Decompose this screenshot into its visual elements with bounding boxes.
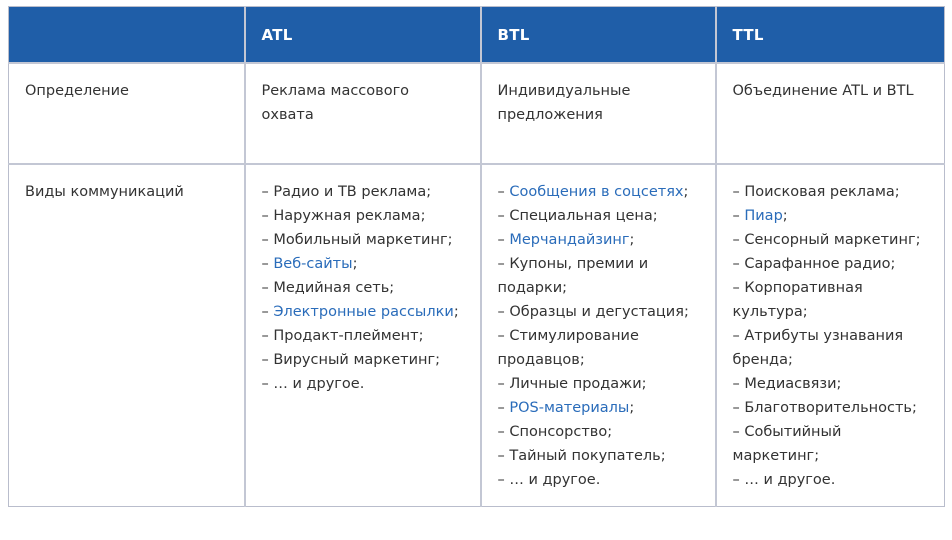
list-item[interactable]: – Сообщения в соцсетях; — [498, 180, 699, 204]
list-item-link[interactable]: Веб-сайты — [273, 256, 352, 272]
list-item-text: Наружная реклама — [273, 208, 420, 224]
list-item: – Тайный покупатель; — [498, 444, 699, 468]
list-item-punctuation: ; — [607, 424, 612, 440]
list-bullet-dash: – — [498, 376, 510, 392]
list-bullet-dash: – — [733, 232, 745, 248]
list-item: – Личные продажи; — [498, 372, 699, 396]
list-bullet-dash: – — [498, 472, 510, 488]
list-item: – Корпоративная культура; — [733, 276, 929, 324]
list-item: – Поисковая реклама; — [733, 180, 929, 204]
list-item-text: Купоны, премии и подарки — [498, 256, 649, 296]
table-row-definition: Определение Реклама массового охвата Инд… — [9, 63, 945, 164]
list-bullet-dash: – — [262, 304, 274, 320]
list-item: – … и другое. — [498, 468, 699, 492]
list-item[interactable]: – POS-материалы; — [498, 396, 699, 420]
cell-communications-btl: – Сообщения в соцсетях;– Специальная цен… — [481, 164, 716, 507]
list-bullet-dash: – — [733, 184, 745, 200]
cell-definition-ttl: Объединение ATL и BTL — [716, 63, 945, 164]
list-item-text: Тайный покупатель — [509, 448, 660, 464]
list-bullet-dash: – — [262, 208, 274, 224]
list-item-punctuation: ; — [916, 232, 921, 248]
list-item: – … и другое. — [262, 372, 464, 396]
list-item[interactable]: – Пиар; — [733, 204, 929, 228]
list-bullet-dash: – — [498, 256, 510, 272]
list-item-text: Сарафанное радио — [744, 256, 890, 272]
list-bullet-dash: – — [498, 328, 510, 344]
list-item-punctuation: . — [596, 472, 601, 488]
list-bullet-dash: – — [262, 232, 274, 248]
list-bullet-dash: – — [733, 472, 745, 488]
list-item-punctuation: ; — [630, 232, 635, 248]
list-item-link[interactable]: Электронные рассылки — [273, 304, 453, 320]
list-bullet-dash: – — [262, 256, 274, 272]
list-item: – Стимулирование продавцов; — [498, 324, 699, 372]
list-item: – Продакт-плеймент; — [262, 324, 464, 348]
list-item: – Образцы и дегустация; — [498, 300, 699, 324]
list-bullet-dash: – — [262, 352, 274, 368]
row-label-communications-text: Виды коммуникаций — [25, 180, 228, 204]
list-bullet-dash: – — [733, 424, 745, 440]
list-item-punctuation: ; — [837, 376, 842, 392]
list-bullet-dash: – — [733, 328, 745, 344]
list-item-text: Мобильный маркетинг — [273, 232, 447, 248]
list-item[interactable]: – Электронные рассылки; — [262, 300, 464, 324]
list-item[interactable]: – Веб-сайты; — [262, 252, 464, 276]
list-item-text: … и другое — [273, 376, 359, 392]
list-item-text: Медиасвязи — [744, 376, 836, 392]
list-item: – … и другое. — [733, 468, 929, 492]
atl-btl-ttl-comparison-table: ATL BTL TTL Определение Реклама массовог… — [8, 6, 945, 507]
list-item-punctuation: ; — [454, 304, 459, 320]
list-communications-btl: – Сообщения в соцсетях;– Специальная цен… — [498, 180, 699, 492]
list-item-text: Медийная сеть — [273, 280, 389, 296]
list-item: – Радио и ТВ реклама; — [262, 180, 464, 204]
list-item-punctuation: ; — [803, 304, 808, 320]
row-label-communications: Виды коммуникаций — [9, 164, 245, 507]
list-item: – Сенсорный маркетинг; — [733, 228, 929, 252]
list-item-text: … и другое — [744, 472, 830, 488]
list-item: – Специальная цена; — [498, 204, 699, 228]
list-item: – Событийный маркетинг; — [733, 420, 929, 468]
list-item-punctuation: ; — [435, 352, 440, 368]
list-communications-ttl: – Поисковая реклама;– Пиар;– Сенсорный м… — [733, 180, 929, 492]
list-item-punctuation: ; — [653, 208, 658, 224]
list-item-text: Радио и ТВ реклама — [273, 184, 426, 200]
corner-blank-cell — [9, 7, 245, 64]
list-item-punctuation: ; — [814, 448, 819, 464]
row-label-definition: Определение — [9, 63, 245, 164]
list-item-link[interactable]: Сообщения в соцсетях — [509, 184, 683, 200]
list-bullet-dash: – — [498, 184, 510, 200]
list-item-punctuation: ; — [642, 376, 647, 392]
cell-communications-ttl: – Поисковая реклама;– Пиар;– Сенсорный м… — [716, 164, 945, 507]
list-item: – Благотворительность; — [733, 396, 929, 420]
list-item-text: … и другое — [509, 472, 595, 488]
list-bullet-dash: – — [262, 280, 274, 296]
list-bullet-dash: – — [733, 256, 745, 272]
list-item-punctuation: ; — [684, 184, 689, 200]
list-item-punctuation: . — [831, 472, 836, 488]
list-item: – Наружная реклама; — [262, 204, 464, 228]
list-item-punctuation: ; — [448, 232, 453, 248]
list-item-punctuation: ; — [629, 400, 634, 416]
list-item-text: Стимулирование продавцов — [498, 328, 639, 368]
list-bullet-dash: – — [733, 208, 745, 224]
cell-definition-ttl-text: Объединение ATL и BTL — [733, 79, 929, 103]
list-item: – Мобильный маркетинг; — [262, 228, 464, 252]
list-item: – Сарафанное радио; — [733, 252, 929, 276]
list-item-punctuation: ; — [912, 400, 917, 416]
column-header-btl: BTL — [481, 7, 716, 64]
cell-definition-btl: Индивидуальные предложения — [481, 63, 716, 164]
list-item-punctuation: ; — [562, 280, 567, 296]
list-bullet-dash: – — [733, 376, 745, 392]
cell-definition-atl: Реклама массового охвата — [245, 63, 481, 164]
list-item-link[interactable]: Мерчандайзинг — [509, 232, 629, 248]
list-item-text: Событийный маркетинг — [733, 424, 842, 464]
list-bullet-dash: – — [498, 424, 510, 440]
list-bullet-dash: – — [262, 376, 274, 392]
list-item: – Вирусный маркетинг; — [262, 348, 464, 372]
table-header: ATL BTL TTL — [9, 7, 945, 64]
column-header-atl: ATL — [245, 7, 481, 64]
list-item: – Медийная сеть; — [262, 276, 464, 300]
list-item: – Спонсорство; — [498, 420, 699, 444]
table-body: Определение Реклама массового охвата Инд… — [9, 63, 945, 507]
list-bullet-dash: – — [498, 304, 510, 320]
list-item-punctuation: ; — [895, 184, 900, 200]
list-item-text: Личные продажи — [509, 376, 641, 392]
list-bullet-dash: – — [498, 448, 510, 464]
list-item-punctuation: ; — [421, 208, 426, 224]
list-item[interactable]: – Мерчандайзинг; — [498, 228, 699, 252]
list-bullet-dash: – — [733, 400, 745, 416]
list-item: – Медиасвязи; — [733, 372, 929, 396]
list-item-text: Атрибуты узнавания бренда — [733, 328, 904, 368]
list-item-text: Продакт-плеймент — [273, 328, 418, 344]
list-item-punctuation: . — [360, 376, 365, 392]
table-header-row: ATL BTL TTL — [9, 7, 945, 64]
list-bullet-dash: – — [262, 184, 274, 200]
list-communications-atl: – Радио и ТВ реклама;– Наружная реклама;… — [262, 180, 464, 396]
list-item-link[interactable]: POS-материалы — [509, 400, 629, 416]
list-item: – Атрибуты узнавания бренда; — [733, 324, 929, 372]
list-item-punctuation: ; — [389, 280, 394, 296]
list-item-text: Вирусный маркетинг — [273, 352, 435, 368]
list-item-text: Специальная цена — [509, 208, 652, 224]
list-item-punctuation: ; — [783, 208, 788, 224]
list-bullet-dash: – — [498, 232, 510, 248]
list-item-text: Корпоративная культура — [733, 280, 863, 320]
comparison-table-container: ATL BTL TTL Определение Реклама массовог… — [0, 0, 952, 515]
list-item-punctuation: ; — [891, 256, 896, 272]
list-item-punctuation: ; — [353, 256, 358, 272]
list-item-text: Образцы и дегустация — [509, 304, 684, 320]
list-item-text: Спонсорство — [509, 424, 607, 440]
cell-definition-atl-text: Реклама массового охвата — [262, 79, 464, 127]
table-row-communications: Виды коммуникаций – Радио и ТВ реклама;–… — [9, 164, 945, 507]
list-item-punctuation: ; — [419, 328, 424, 344]
list-item-link[interactable]: Пиар — [744, 208, 782, 224]
list-bullet-dash: – — [262, 328, 274, 344]
cell-definition-btl-text: Индивидуальные предложения — [498, 79, 699, 127]
list-item-punctuation: ; — [684, 304, 689, 320]
list-item: – Купоны, премии и подарки; — [498, 252, 699, 300]
list-item-text: Благотворительность — [744, 400, 912, 416]
list-bullet-dash: – — [498, 400, 510, 416]
column-header-ttl: TTL — [716, 7, 945, 64]
list-item-punctuation: ; — [426, 184, 431, 200]
list-bullet-dash: – — [498, 208, 510, 224]
list-item-text: Поисковая реклама — [744, 184, 894, 200]
list-item-punctuation: ; — [661, 448, 666, 464]
list-item-punctuation: ; — [788, 352, 793, 368]
cell-communications-atl: – Радио и ТВ реклама;– Наружная реклама;… — [245, 164, 481, 507]
list-item-text: Сенсорный маркетинг — [744, 232, 915, 248]
list-item-punctuation: ; — [580, 352, 585, 368]
list-bullet-dash: – — [733, 280, 745, 296]
row-label-definition-text: Определение — [25, 79, 228, 103]
